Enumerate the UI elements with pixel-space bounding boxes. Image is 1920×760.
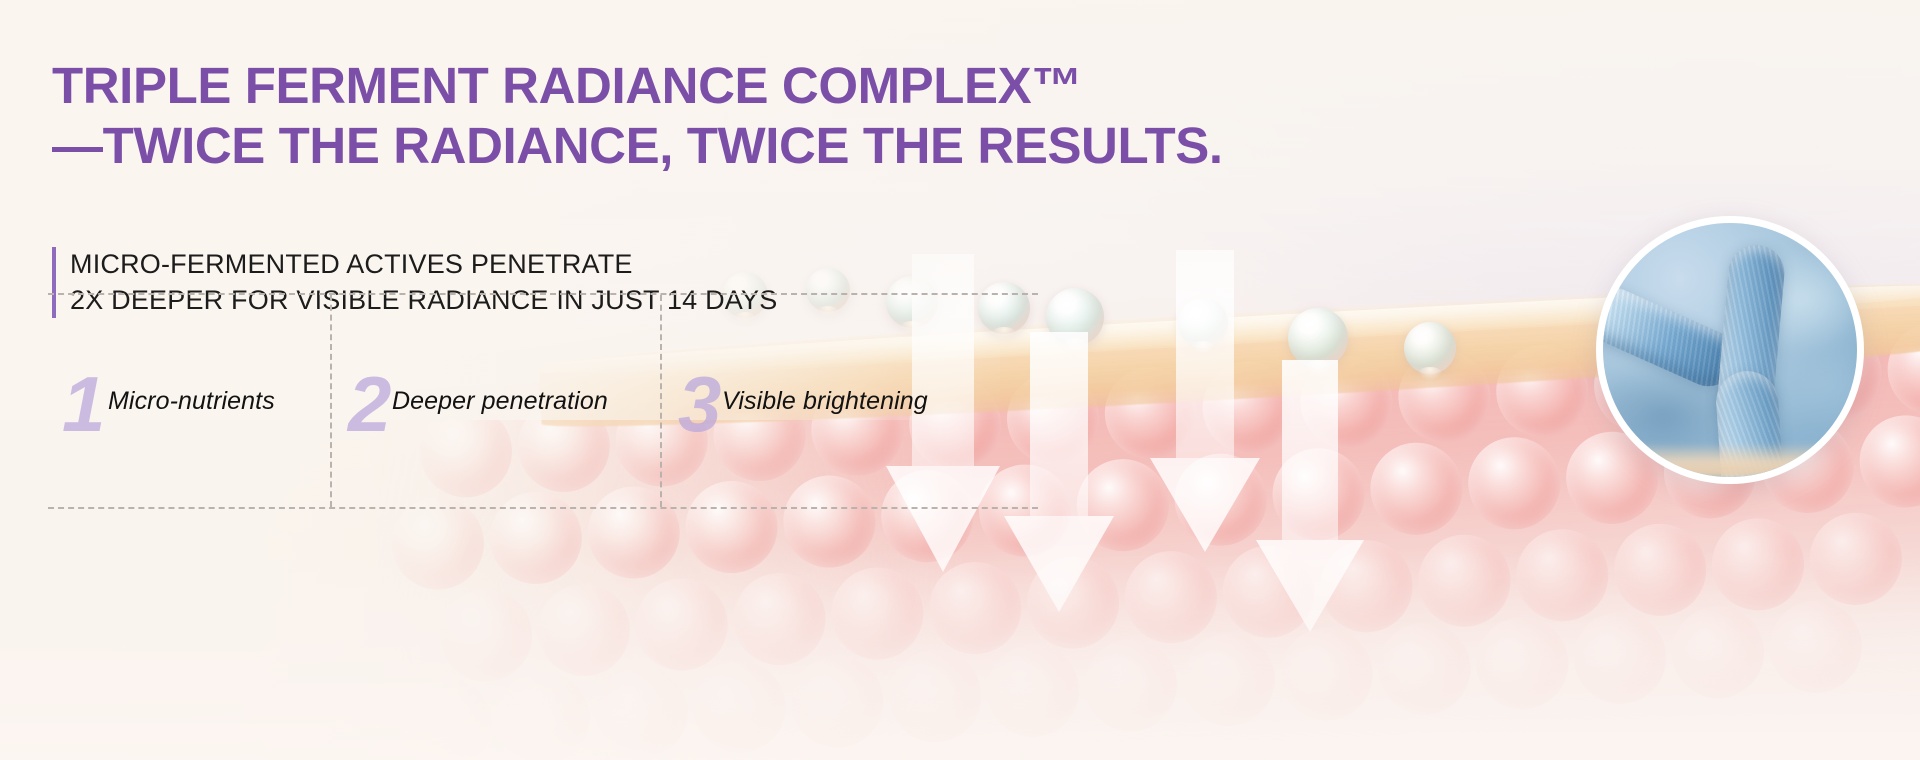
- dermis-cell: [1466, 435, 1563, 532]
- feature-label: Deeper penetration: [392, 387, 608, 416]
- dermis-cell: [1368, 440, 1465, 537]
- serum-droplet: [1288, 308, 1348, 368]
- bottom-fade-overlay: [0, 550, 1920, 760]
- bacteria-micrograph-circle: [1596, 216, 1864, 484]
- feature-number: 3: [678, 365, 721, 443]
- feature-item-micro-nutrients: 1 Micro-nutrients: [48, 295, 330, 507]
- dermis-cell: [1857, 413, 1920, 510]
- micrograph-foreground: [1603, 443, 1857, 477]
- feature-label: Visible brightening: [722, 387, 928, 416]
- headline-line-1: TRIPLE FERMENT RADIANCE COMPLEX™: [52, 56, 1452, 116]
- feature-item-deeper-penetration: 2 Deeper penetration: [330, 295, 660, 507]
- serum-droplet: [1404, 322, 1456, 374]
- feature-item-visible-brightening: 3 Visible brightening: [660, 295, 1038, 507]
- feature-number: 1: [62, 365, 105, 443]
- feature-label: Micro-nutrients: [108, 387, 275, 416]
- headline-line-2: —TWICE THE RADIANCE, TWICE THE RESULTS.: [52, 116, 1452, 176]
- page-title: TRIPLE FERMENT RADIANCE COMPLEX™ —TWICE …: [52, 56, 1452, 175]
- product-benefit-banner: TRIPLE FERMENT RADIANCE COMPLEX™ —TWICE …: [0, 0, 1920, 760]
- feature-list: 1 Micro-nutrients 2 Deeper penetration 3…: [48, 293, 1038, 509]
- subheadline-line-1: MICRO-FERMENTED ACTIVES PENETRATE: [70, 247, 777, 283]
- penetration-arrow-shaft: [1282, 360, 1338, 540]
- feature-number: 2: [348, 365, 391, 443]
- penetration-arrow-head: [1150, 458, 1260, 552]
- penetration-arrow-shaft: [1030, 332, 1088, 516]
